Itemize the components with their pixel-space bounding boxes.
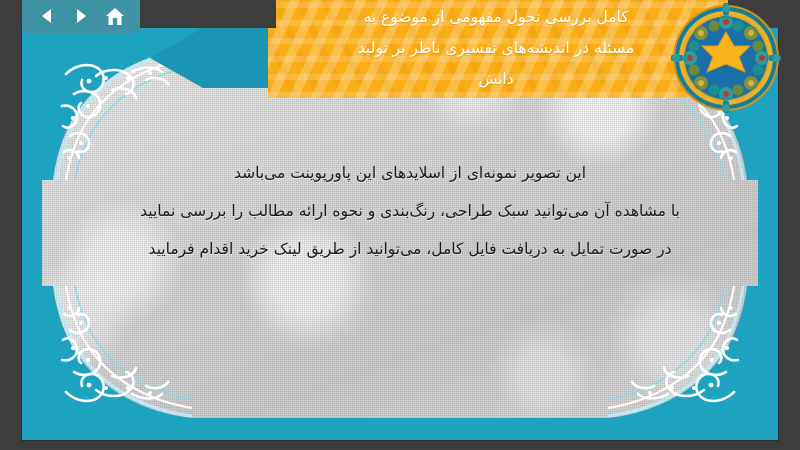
body-line: با مشاهده آن می‌توانید سبک طراحی، رنگ‌بن… [82,192,738,230]
triangle-right-icon [72,7,90,25]
body-line: در صورت تمایل به دریافت فایل کامل، می‌تو… [82,230,738,268]
home-button[interactable] [101,4,129,28]
navigation-toolbar [22,0,140,34]
slide-body-text: این تصویر نمونه‌ای از اسلایدهای این پاور… [82,154,738,268]
prev-button[interactable] [33,4,61,28]
triangle-left-icon [38,7,56,25]
slide-title-banner: کامل بررسی تحول مفهومی از موضوع به مسئله… [268,0,728,98]
slide-viewer: این تصویر نمونه‌ای از اسلایدهای این پاور… [0,0,800,450]
page-title: کامل بررسی تحول مفهومی از موضوع به مسئله… [268,0,728,95]
persian-medallion-icon [670,2,782,114]
next-button[interactable] [67,4,95,28]
home-icon [105,7,125,26]
body-line: این تصویر نمونه‌ای از اسلایدهای این پاور… [82,154,738,192]
